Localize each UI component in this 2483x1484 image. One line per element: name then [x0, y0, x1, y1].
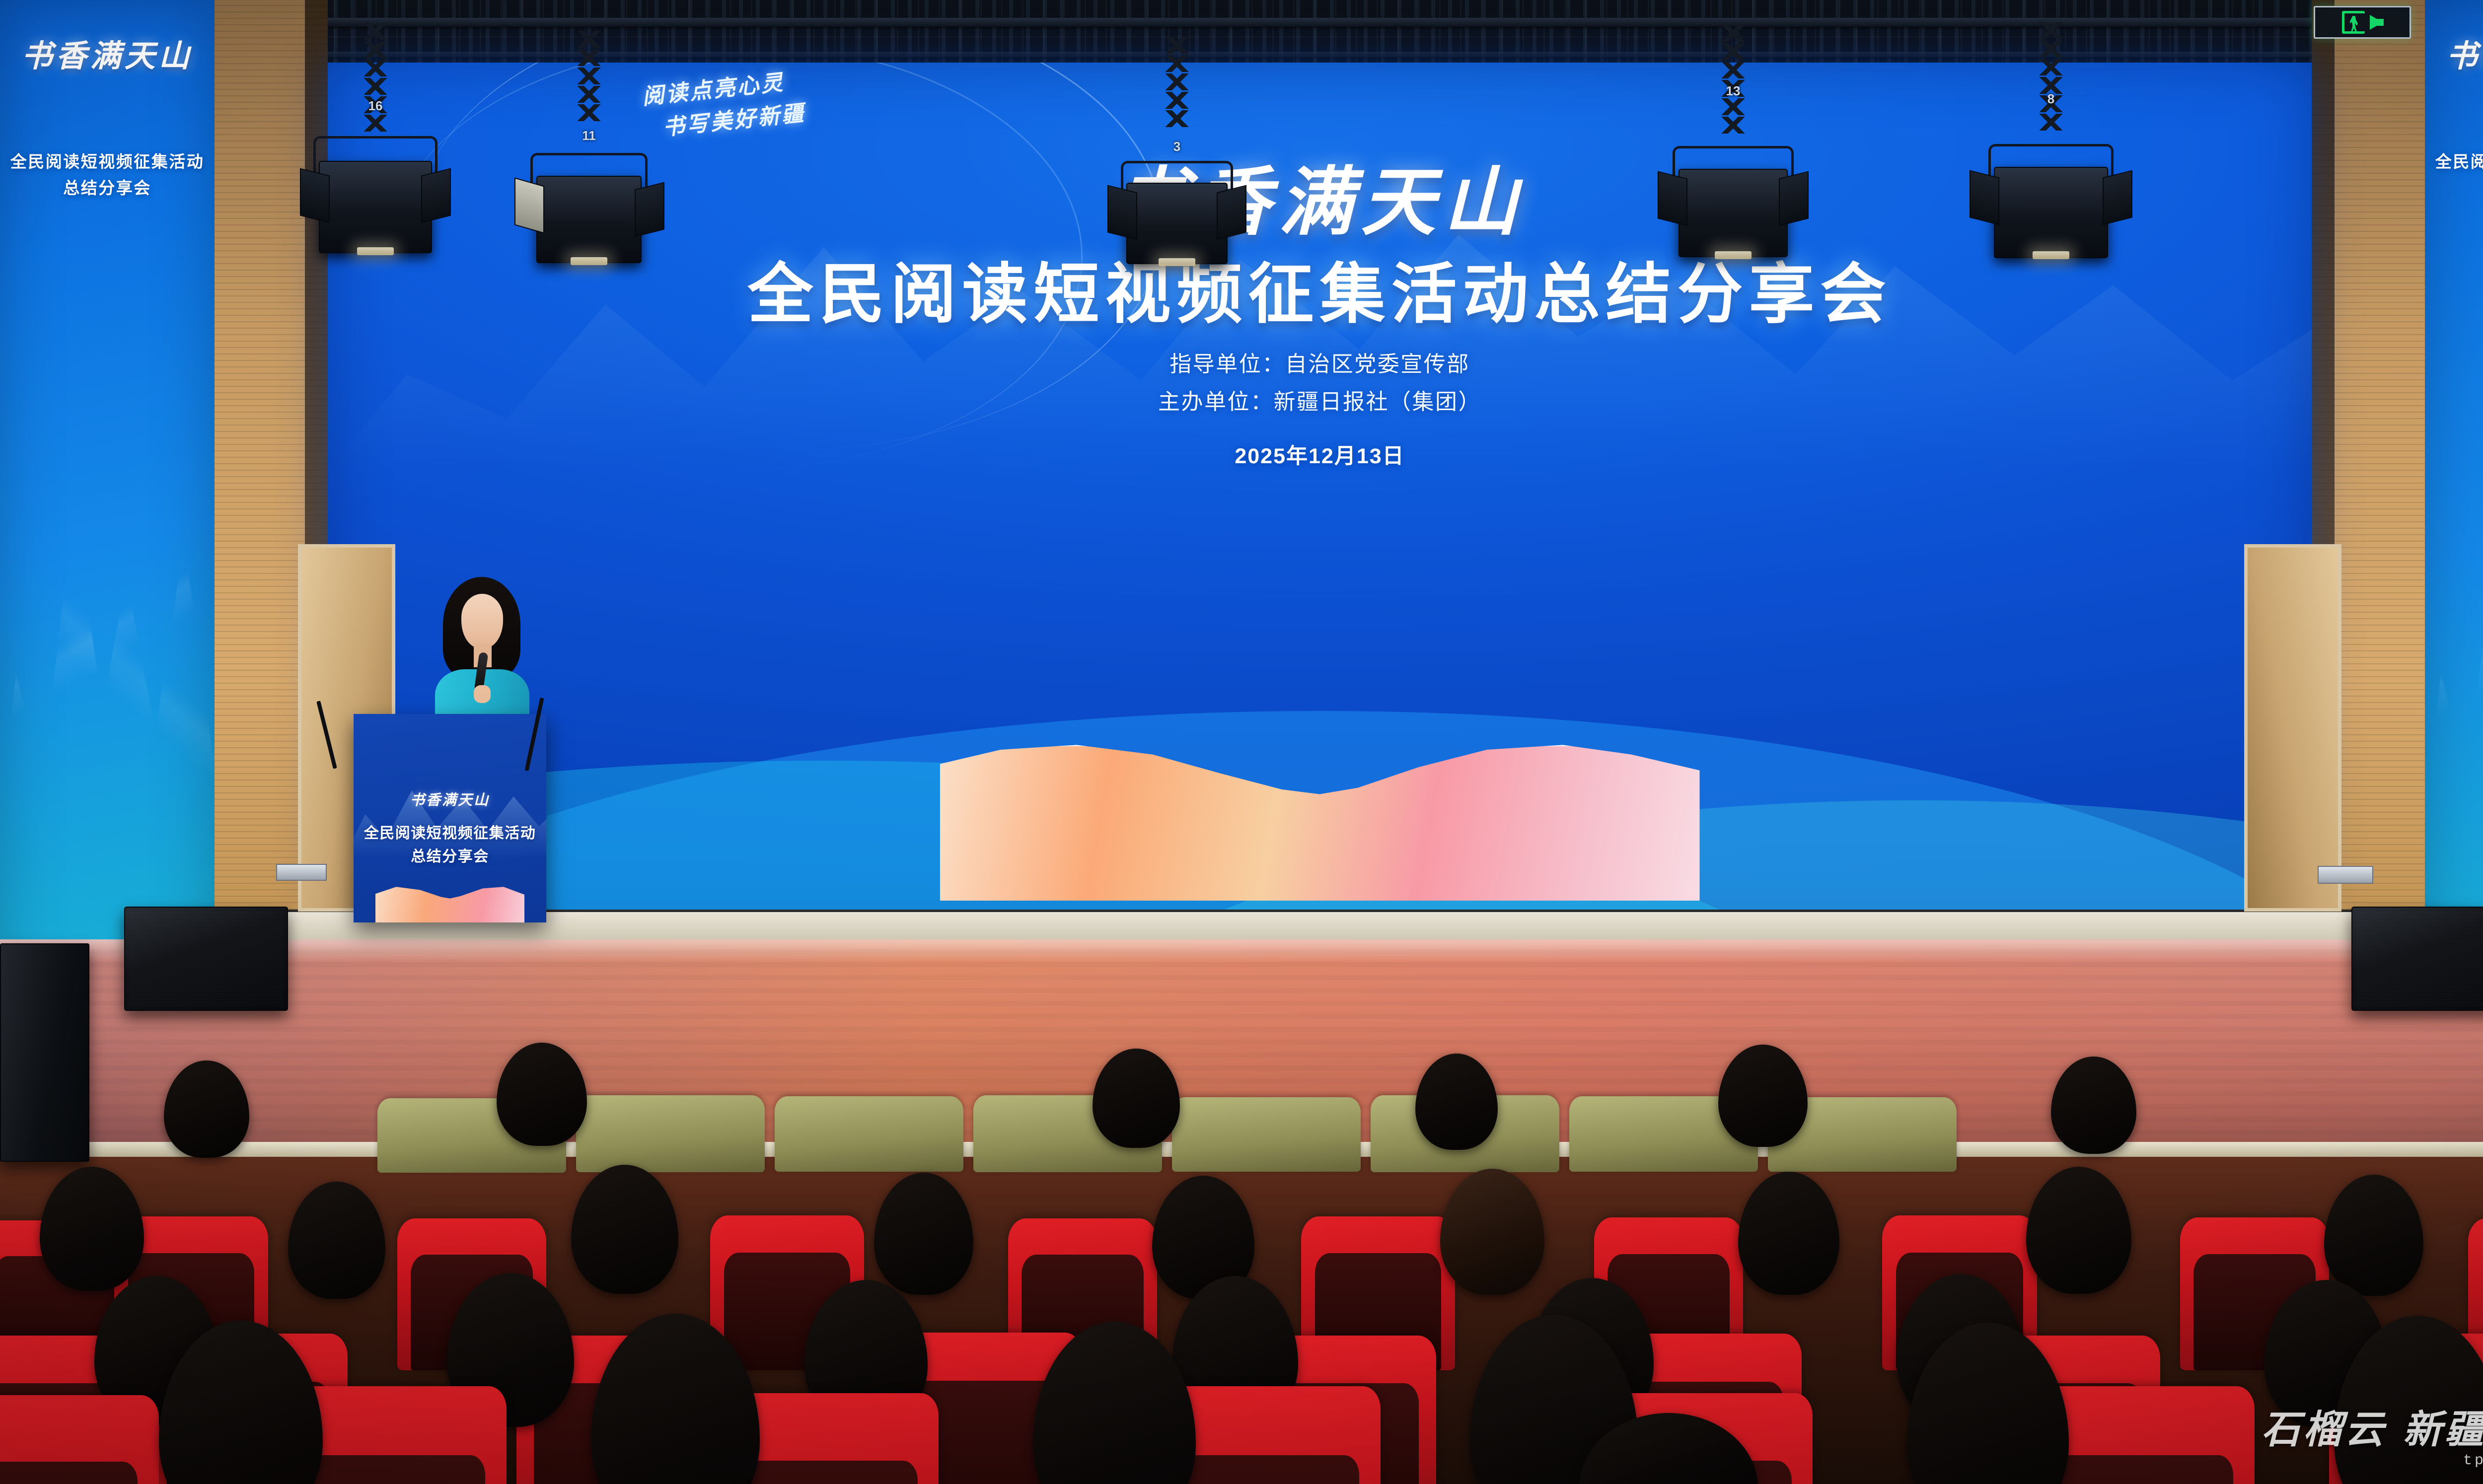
audience-head	[40, 1167, 144, 1291]
stage-light-fixture-11: 11	[510, 31, 668, 279]
side-banner-left-calligraphy: 书香满天山	[0, 31, 215, 75]
audience-head	[1093, 1049, 1180, 1148]
stage-light-number-13: 13	[1726, 83, 1741, 99]
audience-chair[interactable]	[0, 1395, 159, 1484]
side-banner-left-title-line1: 全民阅读短视频征集活动	[3, 149, 212, 175]
stage-light-fixture-16: 16	[296, 23, 455, 281]
watermark-text: 石榴云 新疆图片库	[2262, 1411, 2483, 1449]
screen-organizers: 指导单位：自治区党委宣传部 主办单位：新疆日报社（集团）	[328, 346, 2312, 421]
event-photo-stage: 书香满天山 全民阅读短视频征集活动 总结分享会 指导单位：自治区党委宣传部 主办…	[0, 0, 2483, 1484]
stage-light-fixture-13: 13	[1654, 25, 1813, 278]
stage-light-fixture-8: 8	[1967, 22, 2135, 285]
screen-guidance-org: 指导单位：自治区党委宣传部	[328, 346, 2312, 383]
side-banner-right-title-line2: 总结分享会	[2428, 175, 2483, 202]
rear-chair[interactable]	[775, 1096, 963, 1172]
audience-head	[2051, 1057, 2136, 1154]
podium-title: 全民阅读短视频征集活动 总结分享会	[357, 822, 543, 868]
audience-head	[497, 1043, 587, 1146]
podium: 书香满天山 全民阅读短视频征集活动 总结分享会	[354, 714, 546, 922]
audience-head	[1415, 1054, 1498, 1150]
stage-monitor-speaker-left	[124, 907, 288, 1011]
podium-title-line2: 总结分享会	[357, 846, 543, 869]
stage-light-number-3: 3	[1173, 139, 1180, 154]
screen-event-date: 2025年12月13日	[328, 439, 2312, 470]
running-person-icon	[2342, 11, 2365, 34]
stage-door-right[interactable]	[2244, 544, 2341, 912]
watermark-url: tpk.xjmly.com	[2262, 1452, 2483, 1469]
audience-area	[0, 1018, 2483, 1484]
watermark: 石榴云 新疆图片库 tpk.xjmly.com	[2262, 1411, 2483, 1469]
audience-head	[1738, 1172, 1839, 1295]
mountain-graphic-left	[0, 363, 215, 959]
host-face	[461, 594, 503, 648]
audience-head	[1718, 1045, 1808, 1147]
exit-sign	[2314, 6, 2411, 39]
podium-calligraphy-title: 书香满天山	[354, 788, 546, 809]
side-banner-right-title: 全民阅读短视频征集活动 总结分享会	[2428, 149, 2483, 202]
audience-head	[571, 1165, 678, 1294]
stage-light-number-11: 11	[582, 128, 596, 143]
side-banner-left-title: 全民阅读短视频征集活动 总结分享会	[3, 149, 212, 202]
stage-light-fixture-3: 3	[1102, 37, 1251, 275]
host-hand	[474, 685, 491, 703]
stage-monitor-speaker-right	[2351, 907, 2483, 1011]
rear-chair[interactable]	[576, 1095, 765, 1172]
rear-chair[interactable]	[1172, 1097, 1361, 1172]
podium-title-line1: 全民阅读短视频征集活动	[357, 822, 543, 846]
wall-socket-plate-left[interactable]	[276, 864, 327, 881]
mountain-graphic-right	[2425, 363, 2483, 959]
host-presenter	[425, 577, 537, 726]
screen-host-org: 主办单位：新疆日报社（集团）	[328, 383, 2312, 421]
wall-socket-plate-right[interactable]	[2318, 866, 2373, 884]
audience-head	[2026, 1167, 2131, 1294]
stage-light-number-16: 16	[368, 98, 383, 114]
stage-light-number-8: 8	[2047, 91, 2054, 107]
side-banner-right-calligraphy: 书香满天山	[2425, 31, 2483, 75]
side-banner-right-title-line1: 全民阅读短视频征集活动	[2428, 149, 2483, 175]
arrow-right-icon	[2370, 15, 2383, 30]
audience-head	[1440, 1169, 1544, 1295]
audience-head	[2324, 1175, 2423, 1296]
podium-book-graphic	[375, 884, 524, 922]
audience-head	[164, 1060, 249, 1158]
side-banner-left-title-line2: 总结分享会	[3, 175, 212, 202]
audience-head	[288, 1182, 385, 1299]
audience-head	[874, 1173, 973, 1295]
